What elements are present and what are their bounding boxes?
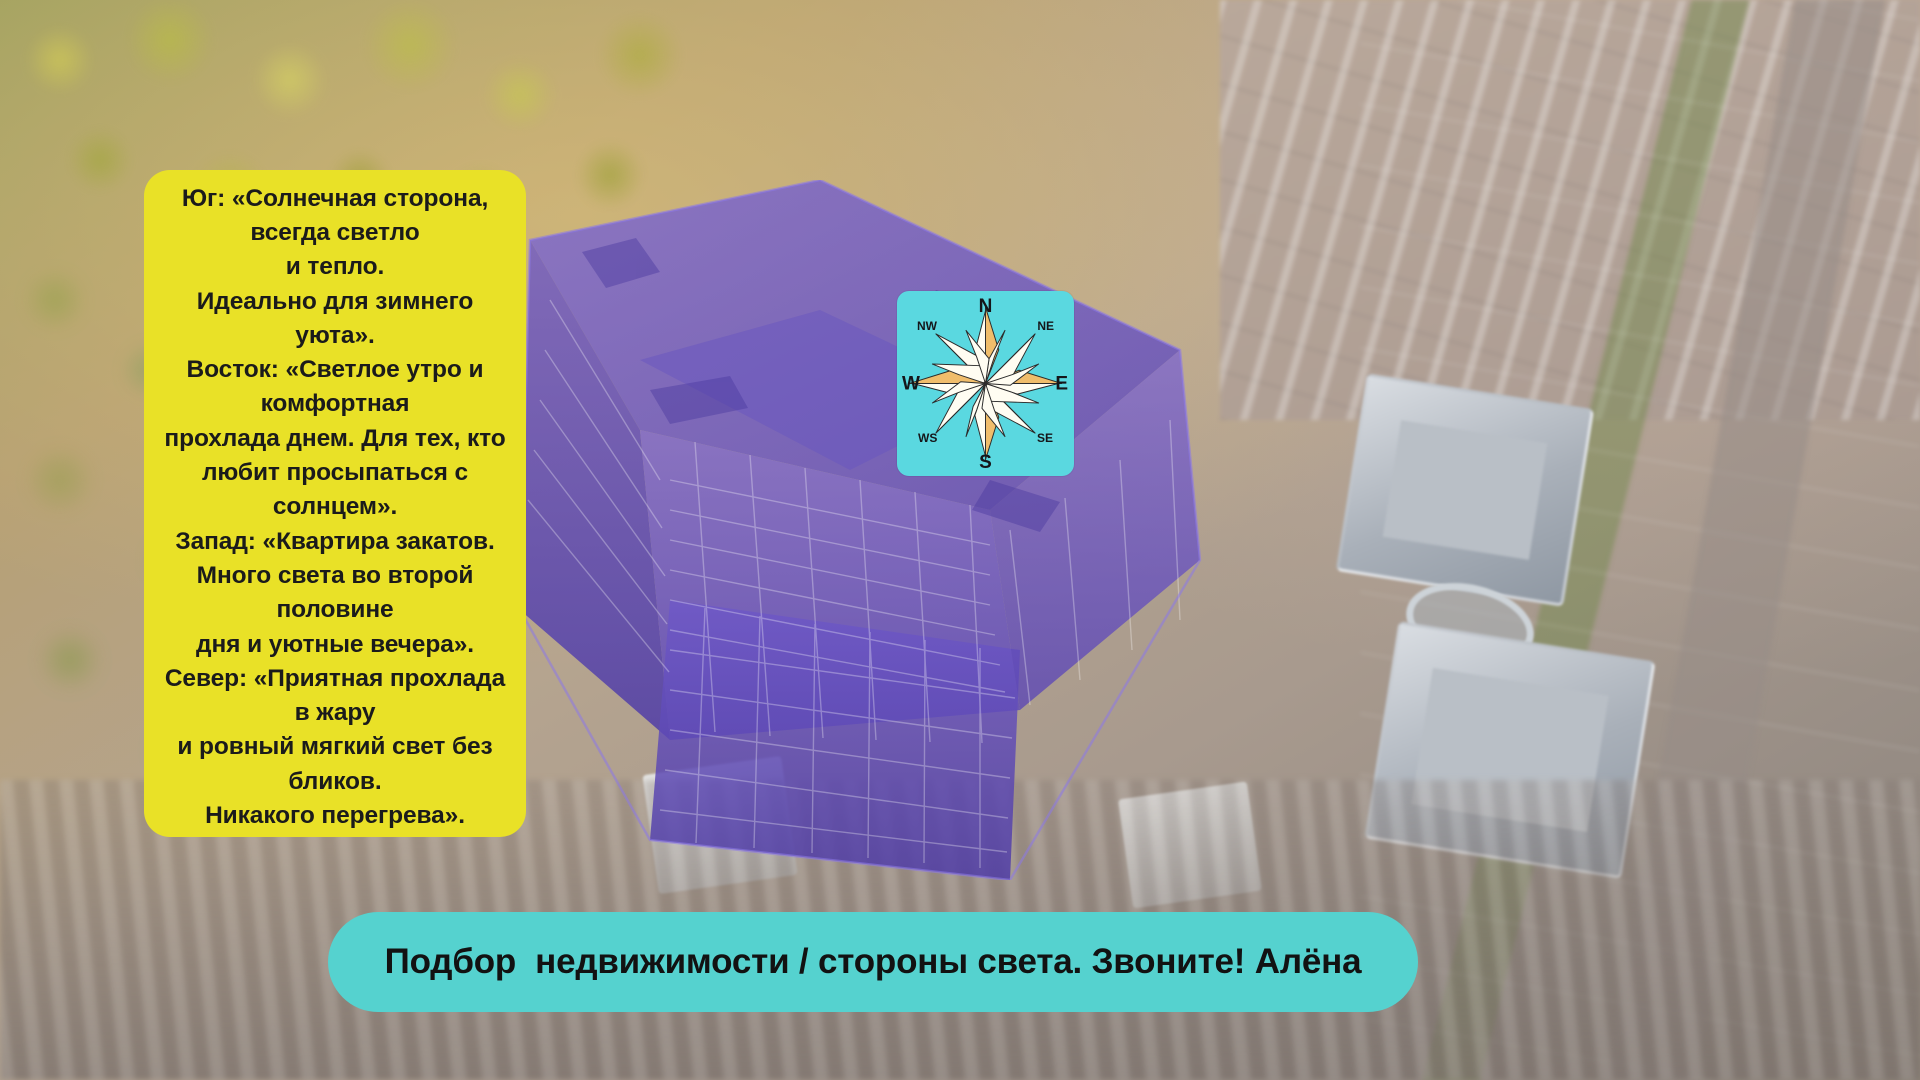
compass-label-east: E (1055, 374, 1068, 393)
compass-label-northwest: NW (917, 320, 937, 332)
compass-label-southeast: SE (1037, 432, 1053, 444)
compass-label-north: N (979, 297, 993, 316)
contact-banner[interactable]: Подбор недвижимости / стороны света. Зво… (328, 912, 1418, 1012)
orientation-benefits-panel: Юг: «Солнечная сторона, всегда светло и … (144, 170, 526, 837)
compass-rose-card: N NE E SE S WS W NW (897, 291, 1074, 476)
orientation-benefits-text: Юг: «Солнечная сторона, всегда светло и … (158, 182, 512, 834)
compass-label-west: W (902, 374, 920, 393)
compass-label-south: S (979, 453, 992, 472)
compass-label-northeast: NE (1037, 320, 1054, 332)
contact-banner-text: Подбор недвижимости / стороны света. Зво… (385, 942, 1362, 982)
neighbor-building-upper (1336, 373, 1594, 607)
compass-label-southwest: WS (918, 432, 937, 444)
